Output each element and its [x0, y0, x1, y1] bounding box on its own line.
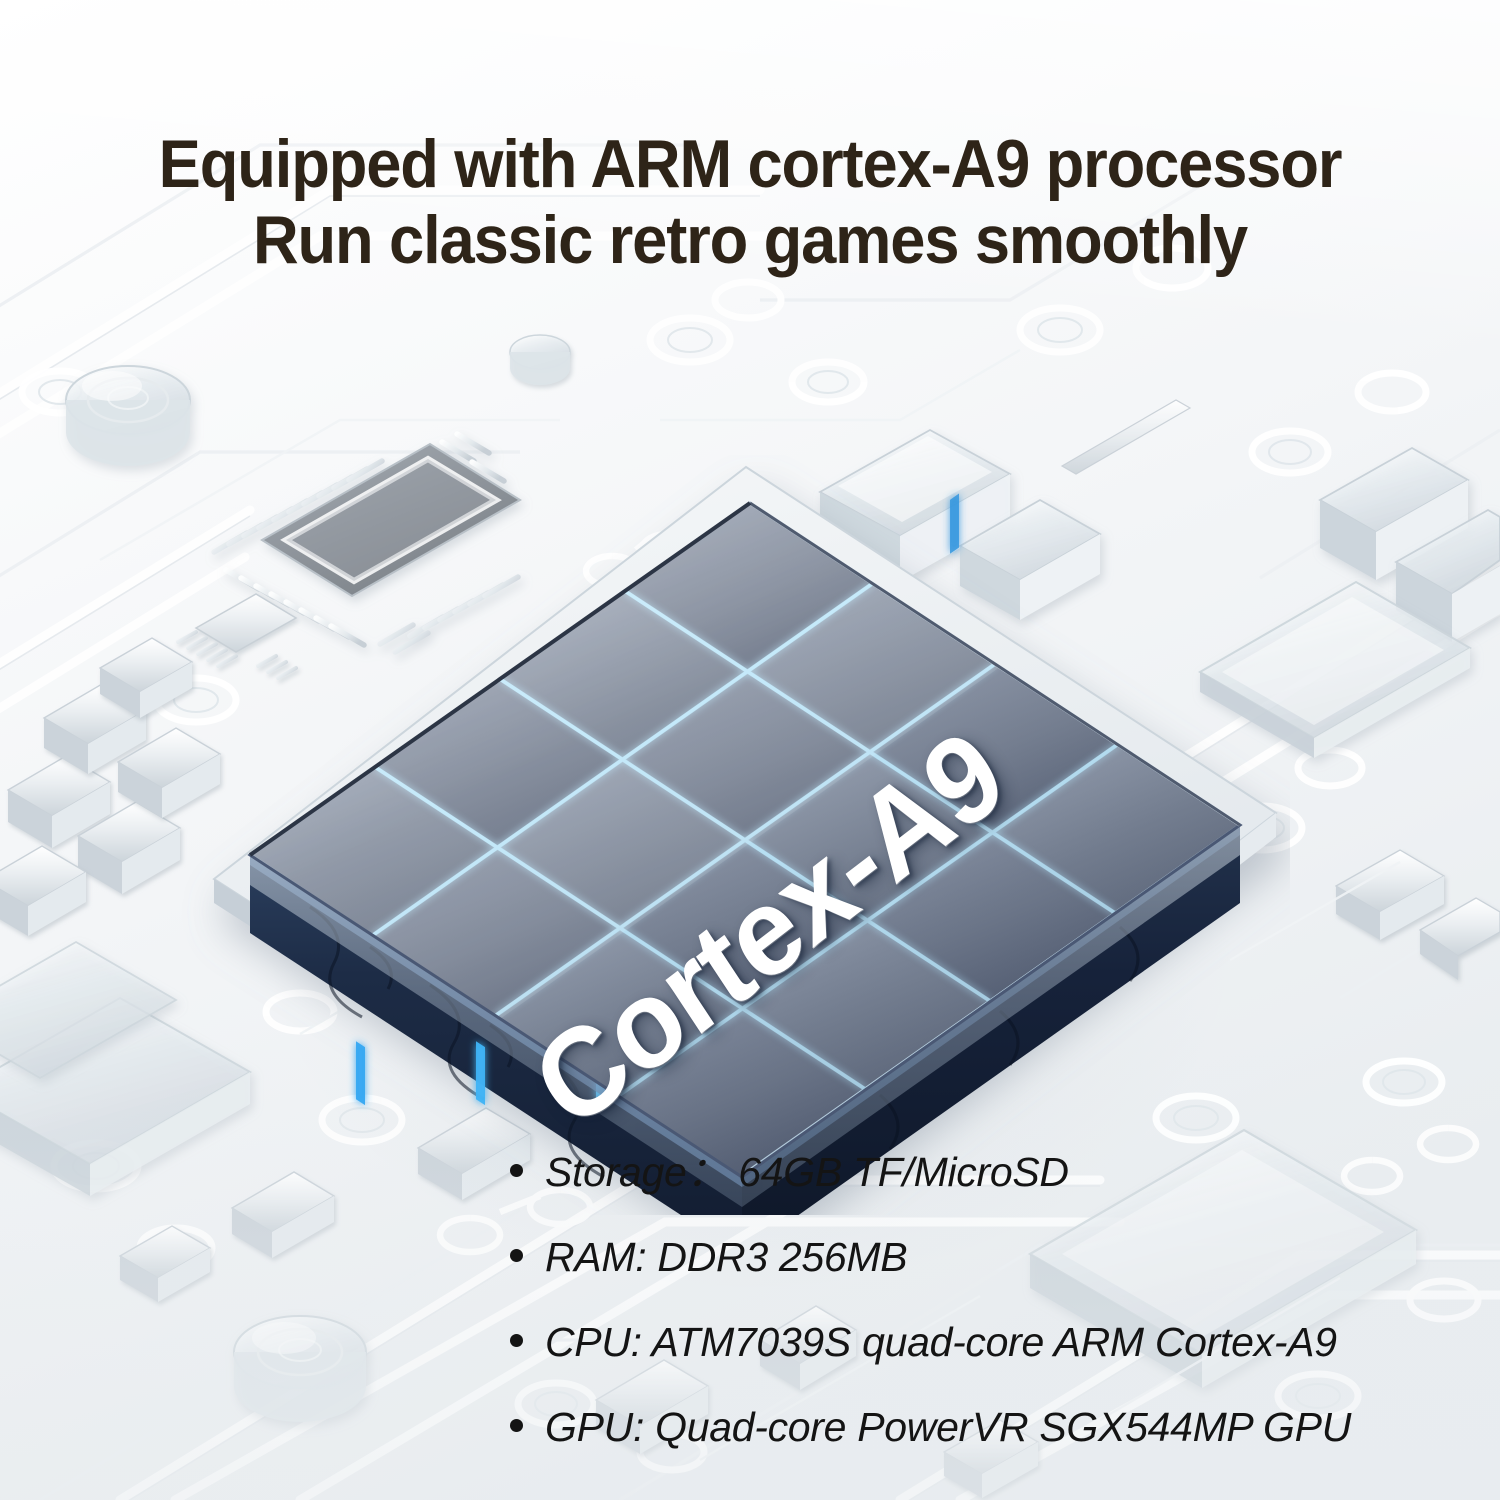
- bullet-icon: [510, 1164, 523, 1177]
- spec-text-ram: RAM: DDR3 256MB: [545, 1237, 907, 1278]
- product-banner: Cortex-A9 Equipped with ARM cortex-A9 pr…: [0, 0, 1500, 1500]
- bullet-icon: [510, 1249, 523, 1262]
- spec-item-ram: RAM: DDR3 256MB: [510, 1237, 1485, 1278]
- spec-list: Storage： 64GB TF/MicroSD RAM: DDR3 256MB…: [510, 1152, 1485, 1492]
- spec-item-gpu: GPU: Quad-core PowerVR SGX544MP GPU: [510, 1407, 1485, 1448]
- headline-line-1: Equipped with ARM cortex-A9 processor: [53, 126, 1448, 202]
- bullet-icon: [510, 1419, 523, 1432]
- capacitor-top-left: [66, 366, 190, 466]
- cortex-a9-chip: Cortex-A9: [180, 455, 1290, 1215]
- spec-item-storage: Storage： 64GB TF/MicroSD: [510, 1152, 1485, 1193]
- page-title: Equipped with ARM cortex-A9 processor Ru…: [53, 126, 1448, 278]
- spec-text-cpu: CPU: ATM7039S quad-core ARM Cortex-A9: [545, 1322, 1337, 1363]
- capacitor-small-top: [510, 335, 570, 385]
- spec-item-cpu: CPU: ATM7039S quad-core ARM Cortex-A9: [510, 1322, 1485, 1363]
- chip-svg: [180, 455, 1290, 1215]
- spec-text-gpu: GPU: Quad-core PowerVR SGX544MP GPU: [545, 1407, 1351, 1448]
- headline-line-2: Run classic retro games smoothly: [53, 202, 1448, 278]
- spec-text-storage: Storage： 64GB TF/MicroSD: [545, 1152, 1069, 1193]
- bullet-icon: [510, 1334, 523, 1347]
- chip-die-array: [250, 503, 1240, 1185]
- capacitor-bottom-left: [234, 1316, 366, 1422]
